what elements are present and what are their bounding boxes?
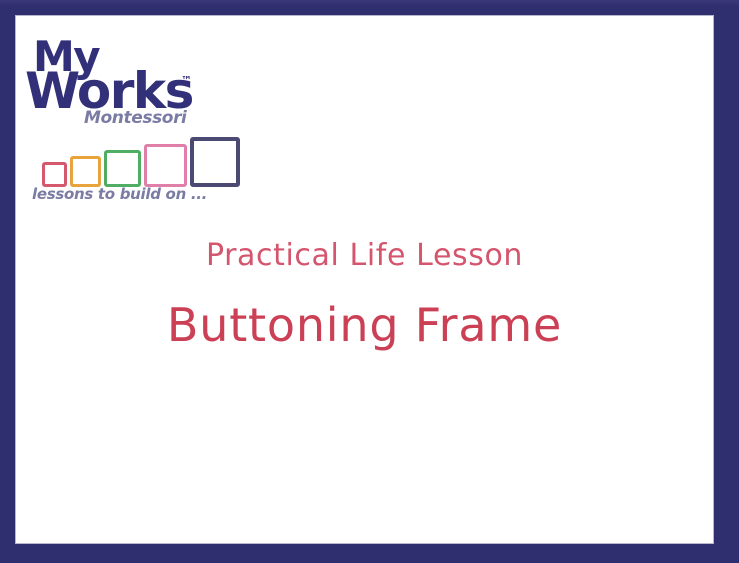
page-title: Buttoning Frame bbox=[16, 298, 713, 353]
lesson-category-label: Practical Life Lesson bbox=[16, 238, 713, 274]
square-orange-icon bbox=[70, 156, 101, 187]
brand-sub-label-montessori: Montessori bbox=[84, 108, 186, 128]
square-pink-icon bbox=[144, 144, 187, 187]
square-red-icon bbox=[42, 162, 67, 187]
logo-stair-step-squares bbox=[30, 133, 245, 187]
square-green-icon bbox=[104, 150, 141, 187]
lesson-heading-block: Practical Life Lesson Buttoning Frame bbox=[16, 238, 713, 353]
my-works-montessori-logo: My Works ™ Montessori lessons to build o… bbox=[22, 22, 252, 202]
lesson-title-slide: My Works ™ Montessori lessons to build o… bbox=[0, 0, 739, 563]
brand-tagline: lessons to build on ... bbox=[32, 185, 207, 203]
brand-wordmark: My Works ™ Montessori bbox=[22, 22, 237, 124]
trademark-icon: ™ bbox=[181, 74, 192, 87]
slide-content-card: My Works ™ Montessori lessons to build o… bbox=[16, 16, 713, 543]
square-navy-icon bbox=[190, 137, 240, 187]
